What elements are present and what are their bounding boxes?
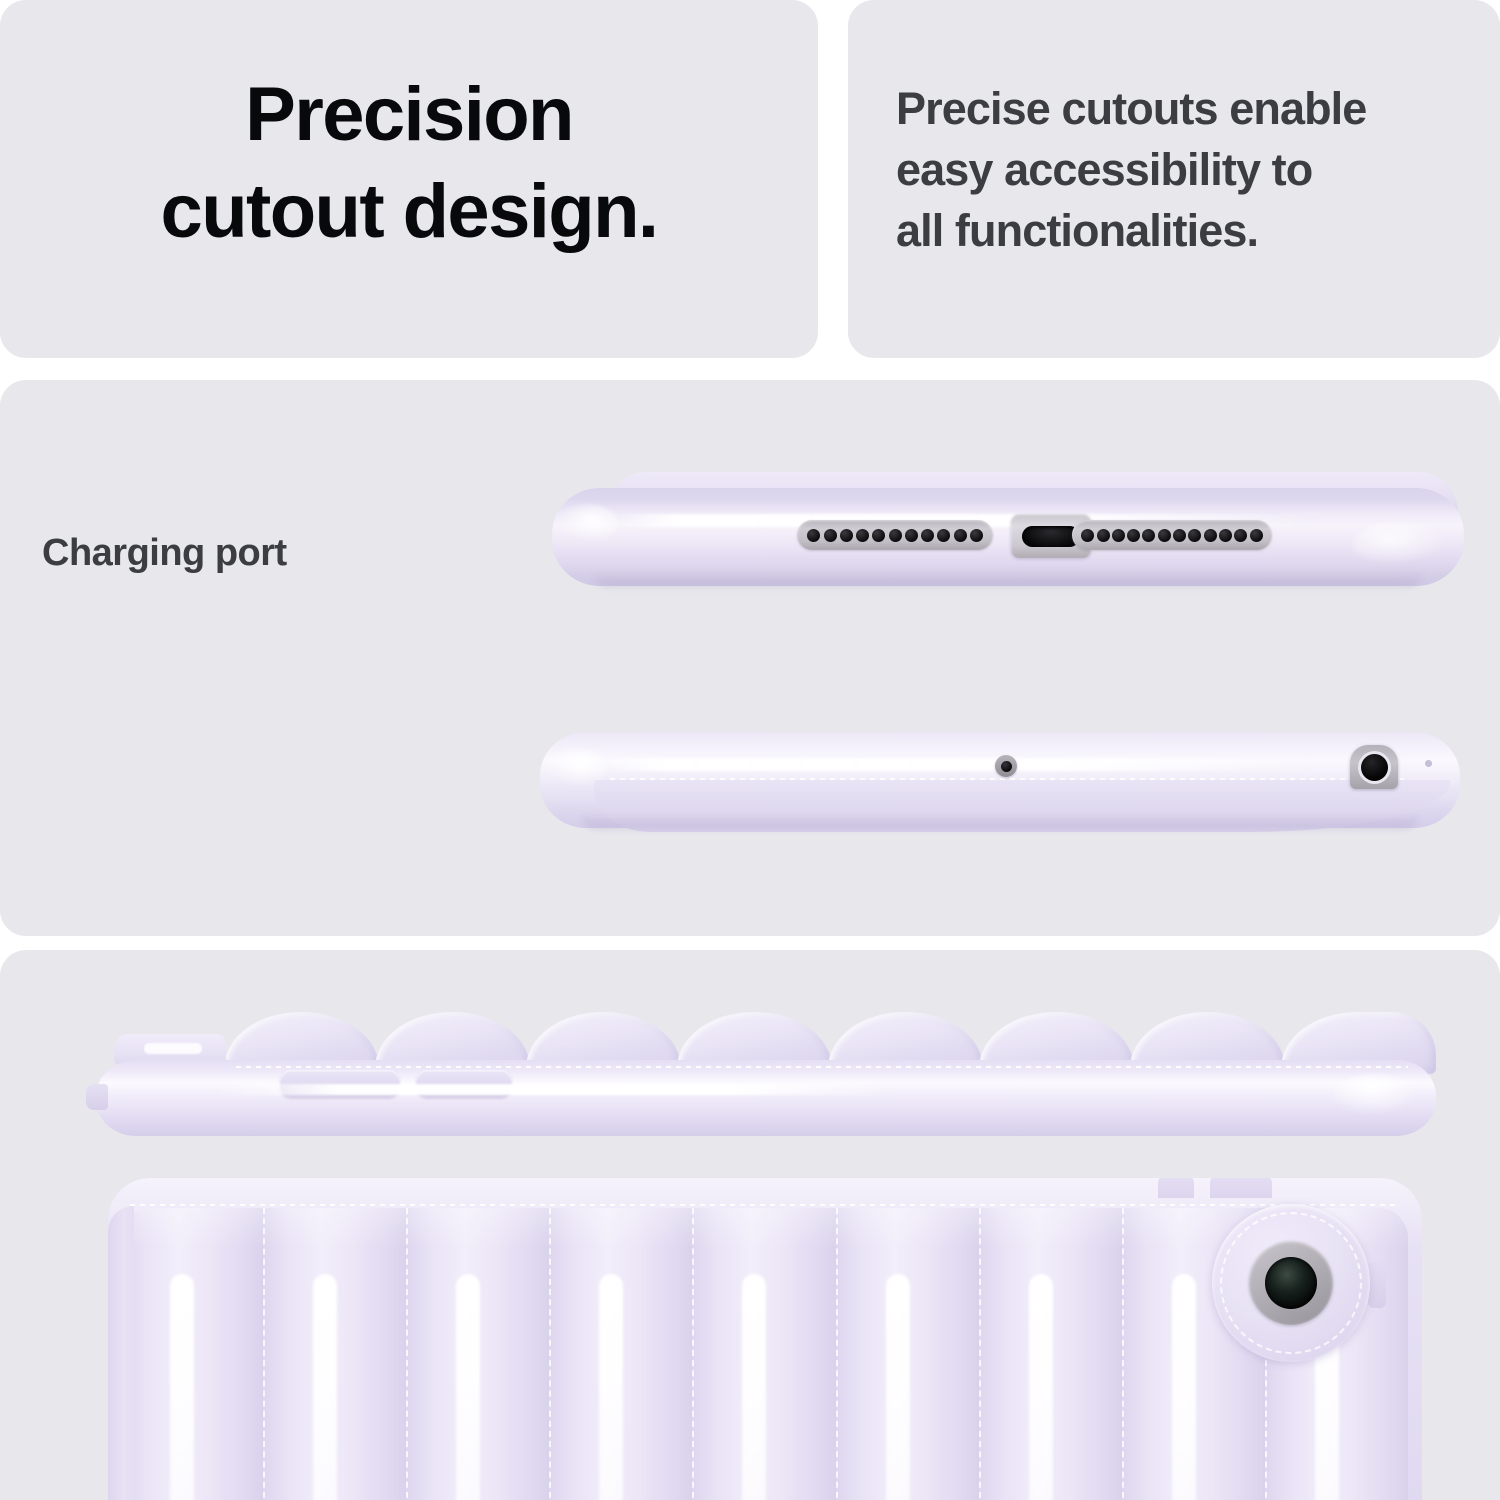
grille-hole [937, 529, 950, 542]
grille-hole [1112, 529, 1125, 542]
grille-hole [954, 529, 967, 542]
page-title: Precision cutout design. [0, 66, 818, 261]
profile-panel [0, 950, 1500, 1500]
grille-hole [889, 529, 902, 542]
camera-cutout-icon [1212, 1204, 1370, 1362]
gloss-highlight-left [555, 504, 619, 544]
grille-hole [970, 529, 983, 542]
headphone-jack-icon [1350, 745, 1398, 789]
ports-panel: Charging port [0, 380, 1500, 936]
case-back-left-edge [108, 1206, 134, 1500]
grille-hole [921, 529, 934, 542]
subtext-panel: Precise cutouts enable easy accessibilit… [848, 0, 1500, 358]
headline-line-2: cutout design. [26, 163, 792, 260]
grille-hole [807, 529, 820, 542]
product-feature-page: Precision cutout design. Precise cutouts… [0, 0, 1500, 1500]
subtext-line-2: easy accessibility to [896, 139, 1476, 200]
quilt-rib [694, 1208, 837, 1500]
quilt-rib [551, 1208, 694, 1500]
grille-hole [1081, 529, 1094, 542]
grille-hole [1234, 529, 1247, 542]
grille-hole [856, 529, 869, 542]
grille-hole [1188, 529, 1201, 542]
quilt-rib [838, 1208, 981, 1500]
top-button-nub [1158, 1178, 1194, 1198]
grille-hole [1219, 529, 1232, 542]
subtext-line-3: all functionalities. [896, 200, 1476, 261]
grille-hole [905, 529, 918, 542]
quilt-rib [408, 1208, 551, 1500]
feature-description: Precise cutouts enable easy accessibilit… [896, 78, 1476, 262]
grille-hole [824, 529, 837, 542]
gloss-highlight-right [1332, 1074, 1420, 1116]
speaker-grille-left-icon [797, 520, 993, 550]
stitch-seam [130, 1204, 1400, 1206]
headline-panel: Precision cutout design. [0, 0, 818, 358]
quilt-rib [122, 1208, 265, 1500]
grille-hole [1250, 529, 1263, 542]
grille-hole [840, 529, 853, 542]
grille-hole [1158, 529, 1171, 542]
headline-line-1: Precision [245, 72, 573, 157]
stitch-seam [610, 778, 1404, 780]
profile-left-nub [86, 1084, 108, 1110]
edge-shadow [580, 813, 1420, 829]
microphone-pinhole-icon [995, 755, 1017, 777]
case-back-view [108, 1178, 1422, 1500]
top-button-nub [1210, 1178, 1272, 1198]
device-profile-view [96, 1008, 1436, 1136]
grille-hole [1173, 529, 1186, 542]
charging-port-label: Charging port [42, 532, 287, 575]
edge-detail-dot [1425, 760, 1432, 767]
device-bottom-edge-view [552, 488, 1464, 586]
gloss-highlight-right [1352, 522, 1448, 566]
gloss-highlight [214, 1084, 894, 1095]
quilt-rib [265, 1208, 408, 1500]
subtext-line-1: Precise cutouts enable [896, 78, 1476, 139]
camera-side-tab [1368, 1262, 1386, 1308]
case-back-inner [122, 1208, 1408, 1500]
port-cluster [797, 514, 1272, 558]
gloss-highlight [596, 758, 1314, 771]
grille-hole [1097, 529, 1110, 542]
grille-hole [872, 529, 885, 542]
grille-hole [1127, 529, 1140, 542]
device-side-edge-view [540, 732, 1460, 828]
quilted-rib-pattern [122, 1208, 1408, 1500]
grille-hole [1204, 529, 1217, 542]
stitch-seam [236, 1066, 1408, 1068]
camera-lens [1249, 1241, 1333, 1325]
edge-shadow [592, 571, 1424, 587]
gloss-highlight-left [543, 748, 607, 788]
speaker-grille-right-icon [1072, 520, 1272, 550]
quilt-rib [981, 1208, 1124, 1500]
grille-hole [1142, 529, 1155, 542]
